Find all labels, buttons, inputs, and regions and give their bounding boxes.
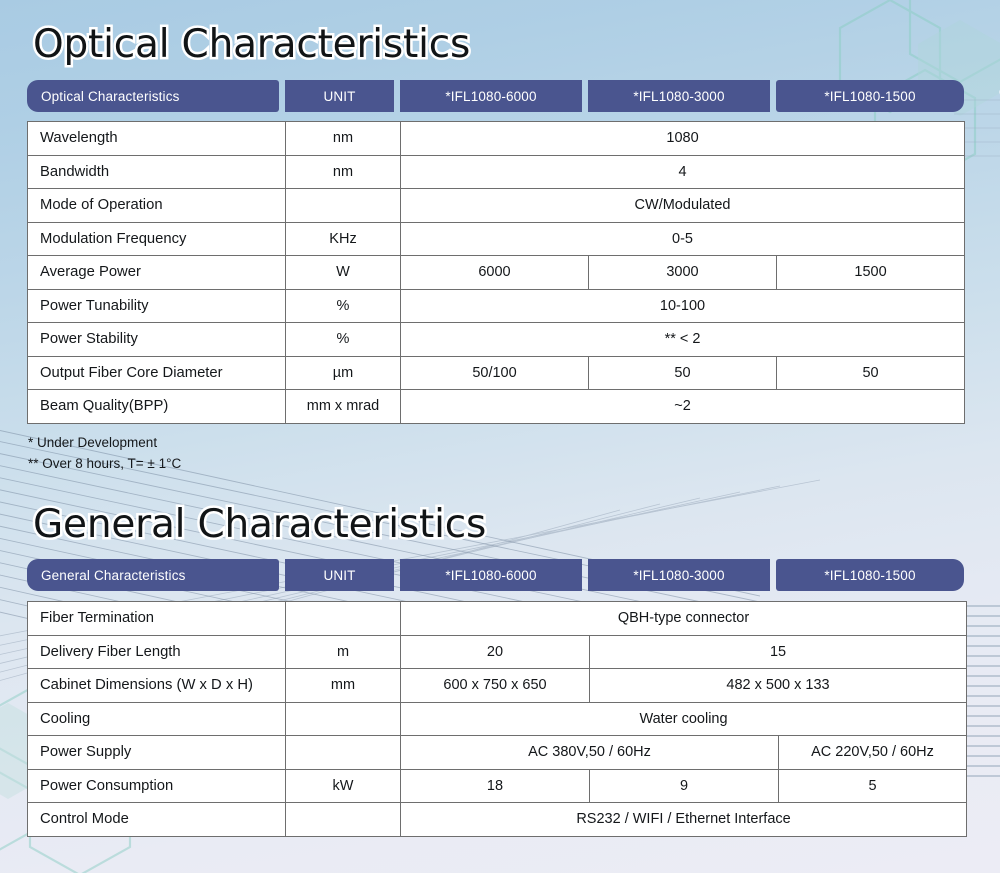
row-unit: KHz bbox=[286, 222, 401, 256]
row-value: 1500 bbox=[777, 256, 965, 290]
row-label: Wavelength bbox=[28, 122, 286, 156]
table-row: Power ConsumptionkW1895 bbox=[28, 769, 967, 803]
row-value: CW/Modulated bbox=[401, 189, 965, 223]
row-unit: kW bbox=[286, 769, 401, 803]
optical-column-header-3: *IFL1080-3000 bbox=[588, 80, 770, 112]
row-label: Output Fiber Core Diameter bbox=[28, 356, 286, 390]
row-unit: W bbox=[286, 256, 401, 290]
row-value: 15 bbox=[590, 635, 967, 669]
row-value: ~2 bbox=[401, 390, 965, 424]
optical-table-header-row: Optical CharacteristicsUNIT*IFL1080-6000… bbox=[27, 80, 964, 112]
row-value: 482 x 500 x 133 bbox=[590, 669, 967, 703]
row-unit bbox=[286, 803, 401, 837]
row-value: AC 220V,50 / 60Hz bbox=[779, 736, 967, 770]
row-value: 0-5 bbox=[401, 222, 965, 256]
table-row: Power Stability%** < 2 bbox=[28, 323, 965, 357]
table-row: Modulation FrequencyKHz0-5 bbox=[28, 222, 965, 256]
optical-characteristics-table: Wavelengthnm1080Bandwidthnm4Mode of Oper… bbox=[27, 121, 965, 424]
table-row: Wavelengthnm1080 bbox=[28, 122, 965, 156]
table-row: Mode of OperationCW/Modulated bbox=[28, 189, 965, 223]
row-value: AC 380V,50 / 60Hz bbox=[401, 736, 779, 770]
table-row: Output Fiber Core Diameterµm50/1005050 bbox=[28, 356, 965, 390]
row-unit: mm x mrad bbox=[286, 390, 401, 424]
table-row: Fiber TerminationQBH-type connector bbox=[28, 602, 967, 636]
row-label: Bandwidth bbox=[28, 155, 286, 189]
row-value: 20 bbox=[401, 635, 590, 669]
row-value: 50 bbox=[589, 356, 777, 390]
row-value: 10-100 bbox=[401, 289, 965, 323]
row-label: Power Stability bbox=[28, 323, 286, 357]
row-value: 600 x 750 x 650 bbox=[401, 669, 590, 703]
optical-column-header-1: UNIT bbox=[285, 80, 394, 112]
table-row: Delivery Fiber Lengthm2015 bbox=[28, 635, 967, 669]
general-column-header-0: General Characteristics bbox=[27, 559, 279, 591]
row-label: Power Tunability bbox=[28, 289, 286, 323]
row-label: Power Consumption bbox=[28, 769, 286, 803]
optical-column-header-2: *IFL1080-6000 bbox=[400, 80, 582, 112]
optical-footnotes: * Under Development ** Over 8 hours, T= … bbox=[28, 433, 181, 474]
general-column-header-2: *IFL1080-6000 bbox=[400, 559, 582, 591]
row-value: 18 bbox=[401, 769, 590, 803]
footnote-2: ** Over 8 hours, T= ± 1°C bbox=[28, 454, 181, 475]
general-characteristics-table: Fiber TerminationQBH-type connectorDeliv… bbox=[27, 601, 967, 837]
page-title-optical: Optical Characteristics bbox=[33, 22, 470, 67]
row-unit bbox=[286, 736, 401, 770]
row-value: 5 bbox=[779, 769, 967, 803]
optical-column-header-0: Optical Characteristics bbox=[27, 80, 279, 112]
row-value: Water cooling bbox=[401, 702, 967, 736]
row-label: Power Supply bbox=[28, 736, 286, 770]
row-label: Beam Quality(BPP) bbox=[28, 390, 286, 424]
row-label: Delivery Fiber Length bbox=[28, 635, 286, 669]
row-unit: % bbox=[286, 323, 401, 357]
row-value: 50/100 bbox=[401, 356, 589, 390]
row-unit bbox=[286, 602, 401, 636]
row-value: QBH-type connector bbox=[401, 602, 967, 636]
optical-table-body: Wavelengthnm1080Bandwidthnm4Mode of Oper… bbox=[28, 122, 965, 424]
table-row: Beam Quality(BPP)mm x mrad~2 bbox=[28, 390, 965, 424]
table-row: Bandwidthnm4 bbox=[28, 155, 965, 189]
row-unit bbox=[286, 189, 401, 223]
optical-column-header-4: *IFL1080-1500 bbox=[776, 80, 964, 112]
row-label: Mode of Operation bbox=[28, 189, 286, 223]
row-value: ** < 2 bbox=[401, 323, 965, 357]
footnote-1: * Under Development bbox=[28, 433, 181, 454]
row-unit: % bbox=[286, 289, 401, 323]
row-label: Fiber Termination bbox=[28, 602, 286, 636]
row-label: Cabinet Dimensions (W x D x H) bbox=[28, 669, 286, 703]
row-value: 4 bbox=[401, 155, 965, 189]
row-unit: m bbox=[286, 635, 401, 669]
row-value: 6000 bbox=[401, 256, 589, 290]
table-row: Power Tunability%10-100 bbox=[28, 289, 965, 323]
row-unit: mm bbox=[286, 669, 401, 703]
general-column-header-1: UNIT bbox=[285, 559, 394, 591]
row-unit: µm bbox=[286, 356, 401, 390]
row-unit: nm bbox=[286, 155, 401, 189]
row-label: Average Power bbox=[28, 256, 286, 290]
row-unit: nm bbox=[286, 122, 401, 156]
row-unit bbox=[286, 702, 401, 736]
row-label: Control Mode bbox=[28, 803, 286, 837]
table-row: Control ModeRS232 / WIFI / Ethernet Inte… bbox=[28, 803, 967, 837]
row-label: Modulation Frequency bbox=[28, 222, 286, 256]
general-table-body: Fiber TerminationQBH-type connectorDeliv… bbox=[28, 602, 967, 837]
row-value: 50 bbox=[777, 356, 965, 390]
page-title-general: General Characteristics bbox=[33, 502, 486, 547]
general-column-header-3: *IFL1080-3000 bbox=[588, 559, 770, 591]
row-value: 9 bbox=[590, 769, 779, 803]
table-row: CoolingWater cooling bbox=[28, 702, 967, 736]
table-row: Average PowerW600030001500 bbox=[28, 256, 965, 290]
row-value: 3000 bbox=[589, 256, 777, 290]
table-row: Cabinet Dimensions (W x D x H)mm600 x 75… bbox=[28, 669, 967, 703]
table-row: Power SupplyAC 380V,50 / 60HzAC 220V,50 … bbox=[28, 736, 967, 770]
spec-sheet-page: Optical Characteristics Optical Characte… bbox=[0, 0, 1000, 873]
general-table-header-row: General CharacteristicsUNIT*IFL1080-6000… bbox=[27, 559, 966, 591]
row-value: RS232 / WIFI / Ethernet Interface bbox=[401, 803, 967, 837]
row-value: 1080 bbox=[401, 122, 965, 156]
row-label: Cooling bbox=[28, 702, 286, 736]
general-column-header-4: *IFL1080-1500 bbox=[776, 559, 964, 591]
